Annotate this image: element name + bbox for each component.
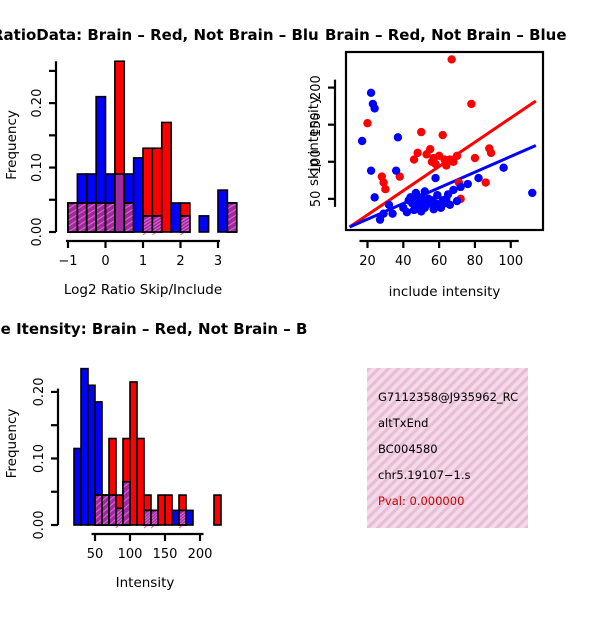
panel-ratio-histogram: RatioData: Brain – Red, Not Brain – Blu … (0, 0, 300, 310)
scatter-point (471, 154, 479, 162)
x-axis-tick-label: 1 (139, 254, 147, 269)
y-axis-tick-label: 0.00 (30, 218, 45, 247)
info-line: G7112358@J935962_RC (378, 390, 518, 404)
scatter-point (358, 137, 366, 145)
y-axis-label: Frequency (4, 409, 20, 479)
scatter-point (487, 149, 495, 157)
scatter-plot: 2040608010050100150200include intensitys… (300, 30, 600, 330)
x-axis-tick-label: 100 (498, 254, 523, 269)
scatter-point (431, 160, 439, 168)
y-axis-tick-label: 0.00 (32, 511, 47, 540)
intensity-bars (74, 369, 221, 528)
x-axis-tick-label: 2 (176, 254, 184, 269)
scatter-point (447, 55, 455, 63)
scatter-point (367, 89, 375, 97)
x-axis-tick-label: 0 (101, 254, 109, 269)
scatter-point (403, 208, 411, 216)
intensity-histogram-plot: 501001502000.000.100.20IntensityFrequenc… (0, 338, 300, 628)
scatter-point (367, 166, 375, 174)
scatter-point (528, 189, 536, 197)
x-axis-tick-label: 100 (118, 547, 143, 562)
x-axis-label: include intensity (389, 284, 501, 300)
scatter-point (431, 174, 439, 182)
histogram-bar (218, 190, 227, 232)
scatter-point (379, 209, 387, 217)
x-axis-tick-label: 40 (395, 254, 412, 269)
scatter-point (456, 183, 464, 191)
histogram-bar (199, 216, 208, 232)
scatter-point (392, 166, 400, 174)
ratio-axes: −101230.000.100.20 (30, 61, 222, 269)
gene-info-box: G7112358@J935962_RCaltTxEndBC004580chr5.… (367, 368, 528, 528)
x-axis-tick-label: 200 (188, 547, 213, 562)
ratio-histogram-plot: −101230.000.100.20Log2 Ratio Skip/Includ… (0, 30, 300, 330)
scatter-point (385, 201, 393, 209)
ratio-bars (68, 61, 237, 235)
histogram-bar (130, 382, 137, 525)
scatter-points (350, 55, 537, 227)
x-axis-tick-label: 50 (87, 547, 104, 562)
x-axis-tick-label: 60 (431, 254, 448, 269)
histogram-bar (134, 158, 143, 232)
intensity-histogram-title: ne Itensity: Brain – Red, Not Brain – B (0, 320, 307, 338)
scatter-point (381, 185, 389, 193)
scatter-point (481, 178, 489, 186)
x-axis-tick-label: 150 (153, 547, 178, 562)
histogram-bar (172, 510, 179, 525)
histogram-bar (171, 203, 180, 232)
info-line: BC004580 (378, 442, 438, 456)
histogram-bar (158, 495, 165, 525)
histogram-bar (137, 439, 144, 525)
scatter-axes: 2040608010050100150200 (309, 75, 523, 269)
info-line: chr5.19107−1.s (378, 468, 471, 482)
scatter-point (439, 131, 447, 139)
scatter-point (499, 164, 507, 172)
scatter-point (453, 152, 461, 160)
x-axis-tick-label: 3 (214, 254, 222, 269)
panel-intensity-histogram: ne Itensity: Brain – Red, Not Brain – B … (0, 300, 300, 600)
figure-canvas: RatioData: Brain – Red, Not Brain – Blu … (0, 0, 600, 600)
scatter-point (464, 180, 472, 188)
histogram-bar (88, 385, 95, 525)
y-axis-tick-label: 0.20 (32, 377, 47, 406)
y-axis-label: skip intensity (306, 96, 322, 186)
scatter-point (449, 186, 457, 194)
info-line: altTxEnd (378, 416, 428, 430)
scatter-point (446, 201, 454, 209)
scatter-point (413, 149, 421, 157)
x-axis-tick-label: −1 (58, 254, 77, 269)
y-axis-tick-label: 50 (309, 191, 324, 208)
y-axis-tick-label: 0.10 (32, 444, 47, 473)
histogram-bar (81, 369, 88, 525)
scatter-point (421, 187, 429, 195)
scatter-point (370, 104, 378, 112)
panel-scatter: Brain – Red, Not Brain – Blue 2040608010… (300, 0, 600, 310)
histogram-bar (74, 448, 81, 525)
info-pval-line: Pval: 0.000000 (378, 494, 464, 508)
scatter-point (474, 174, 482, 182)
histogram-bar (165, 495, 172, 525)
scatter-point (394, 133, 402, 141)
x-axis-tick-label: 20 (359, 254, 376, 269)
info-box-lines: G7112358@J935962_RCaltTxEndBC004580chr5.… (367, 368, 528, 528)
scatter-point (417, 128, 425, 136)
scatter-point (388, 209, 396, 217)
y-axis-tick-label: 0.10 (30, 153, 45, 182)
x-axis-tick-label: 80 (467, 254, 484, 269)
histogram-bar (186, 510, 193, 525)
histogram-bar (214, 495, 221, 525)
x-axis-label: Intensity (116, 575, 175, 591)
y-axis-label: Frequency (4, 110, 20, 180)
histogram-bar (162, 122, 171, 232)
scatter-point (467, 100, 475, 108)
scatter-point (426, 145, 434, 153)
histogram-bar-overlap (115, 174, 124, 232)
scatter-point (363, 119, 371, 127)
scatter-point (453, 197, 461, 205)
x-axis-label: Log2 Ratio Skip/Include (64, 282, 222, 298)
y-axis-tick-label: 0.20 (30, 89, 45, 118)
scatter-point (370, 193, 378, 201)
